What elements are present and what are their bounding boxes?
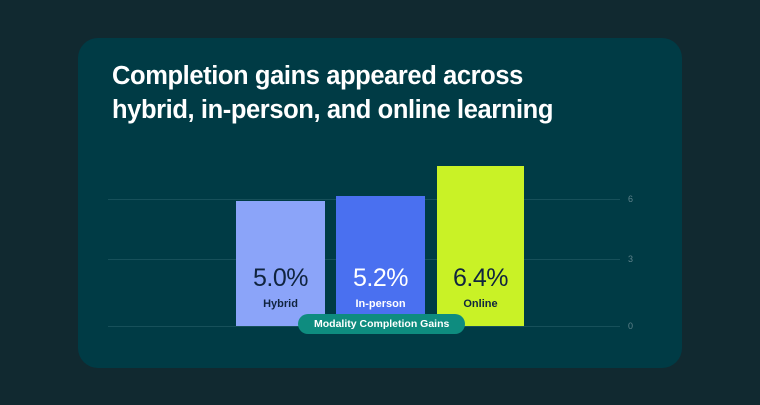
bar-hybrid[interactable]: 5.0% Hybrid: [236, 201, 325, 326]
bar-online[interactable]: 6.4% Online: [437, 166, 524, 326]
bar-group: 5.0% Hybrid 5.2% In-person 6.4% Online: [108, 153, 620, 326]
y-axis-tick-6: 6: [628, 194, 652, 204]
bar-value-hybrid: 5.0%: [236, 264, 325, 293]
bar-chart-plot-area: 6 3 0 5.0% Hybrid 5.2% In-person 6.4% On…: [108, 153, 658, 293]
bar-category-in-person: In-person: [336, 298, 425, 310]
bar-category-online: Online: [437, 298, 524, 310]
page-title-line-2: hybrid, in-person, and online learning: [112, 94, 652, 128]
y-axis-tick-0: 0: [628, 321, 652, 331]
bar-in-person[interactable]: 5.2% In-person: [336, 196, 425, 326]
chart-legend-badge[interactable]: Modality Completion Gains: [298, 314, 465, 334]
page-title: Completion gains appeared across hybrid,…: [112, 60, 652, 128]
bar-value-online: 6.4%: [437, 264, 524, 293]
page-title-line-1: Completion gains appeared across: [112, 60, 652, 94]
bar-value-in-person: 5.2%: [336, 264, 425, 293]
y-axis-tick-3: 3: [628, 254, 652, 264]
chart-card: Completion gains appeared across hybrid,…: [78, 38, 682, 368]
bar-category-hybrid: Hybrid: [236, 298, 325, 310]
